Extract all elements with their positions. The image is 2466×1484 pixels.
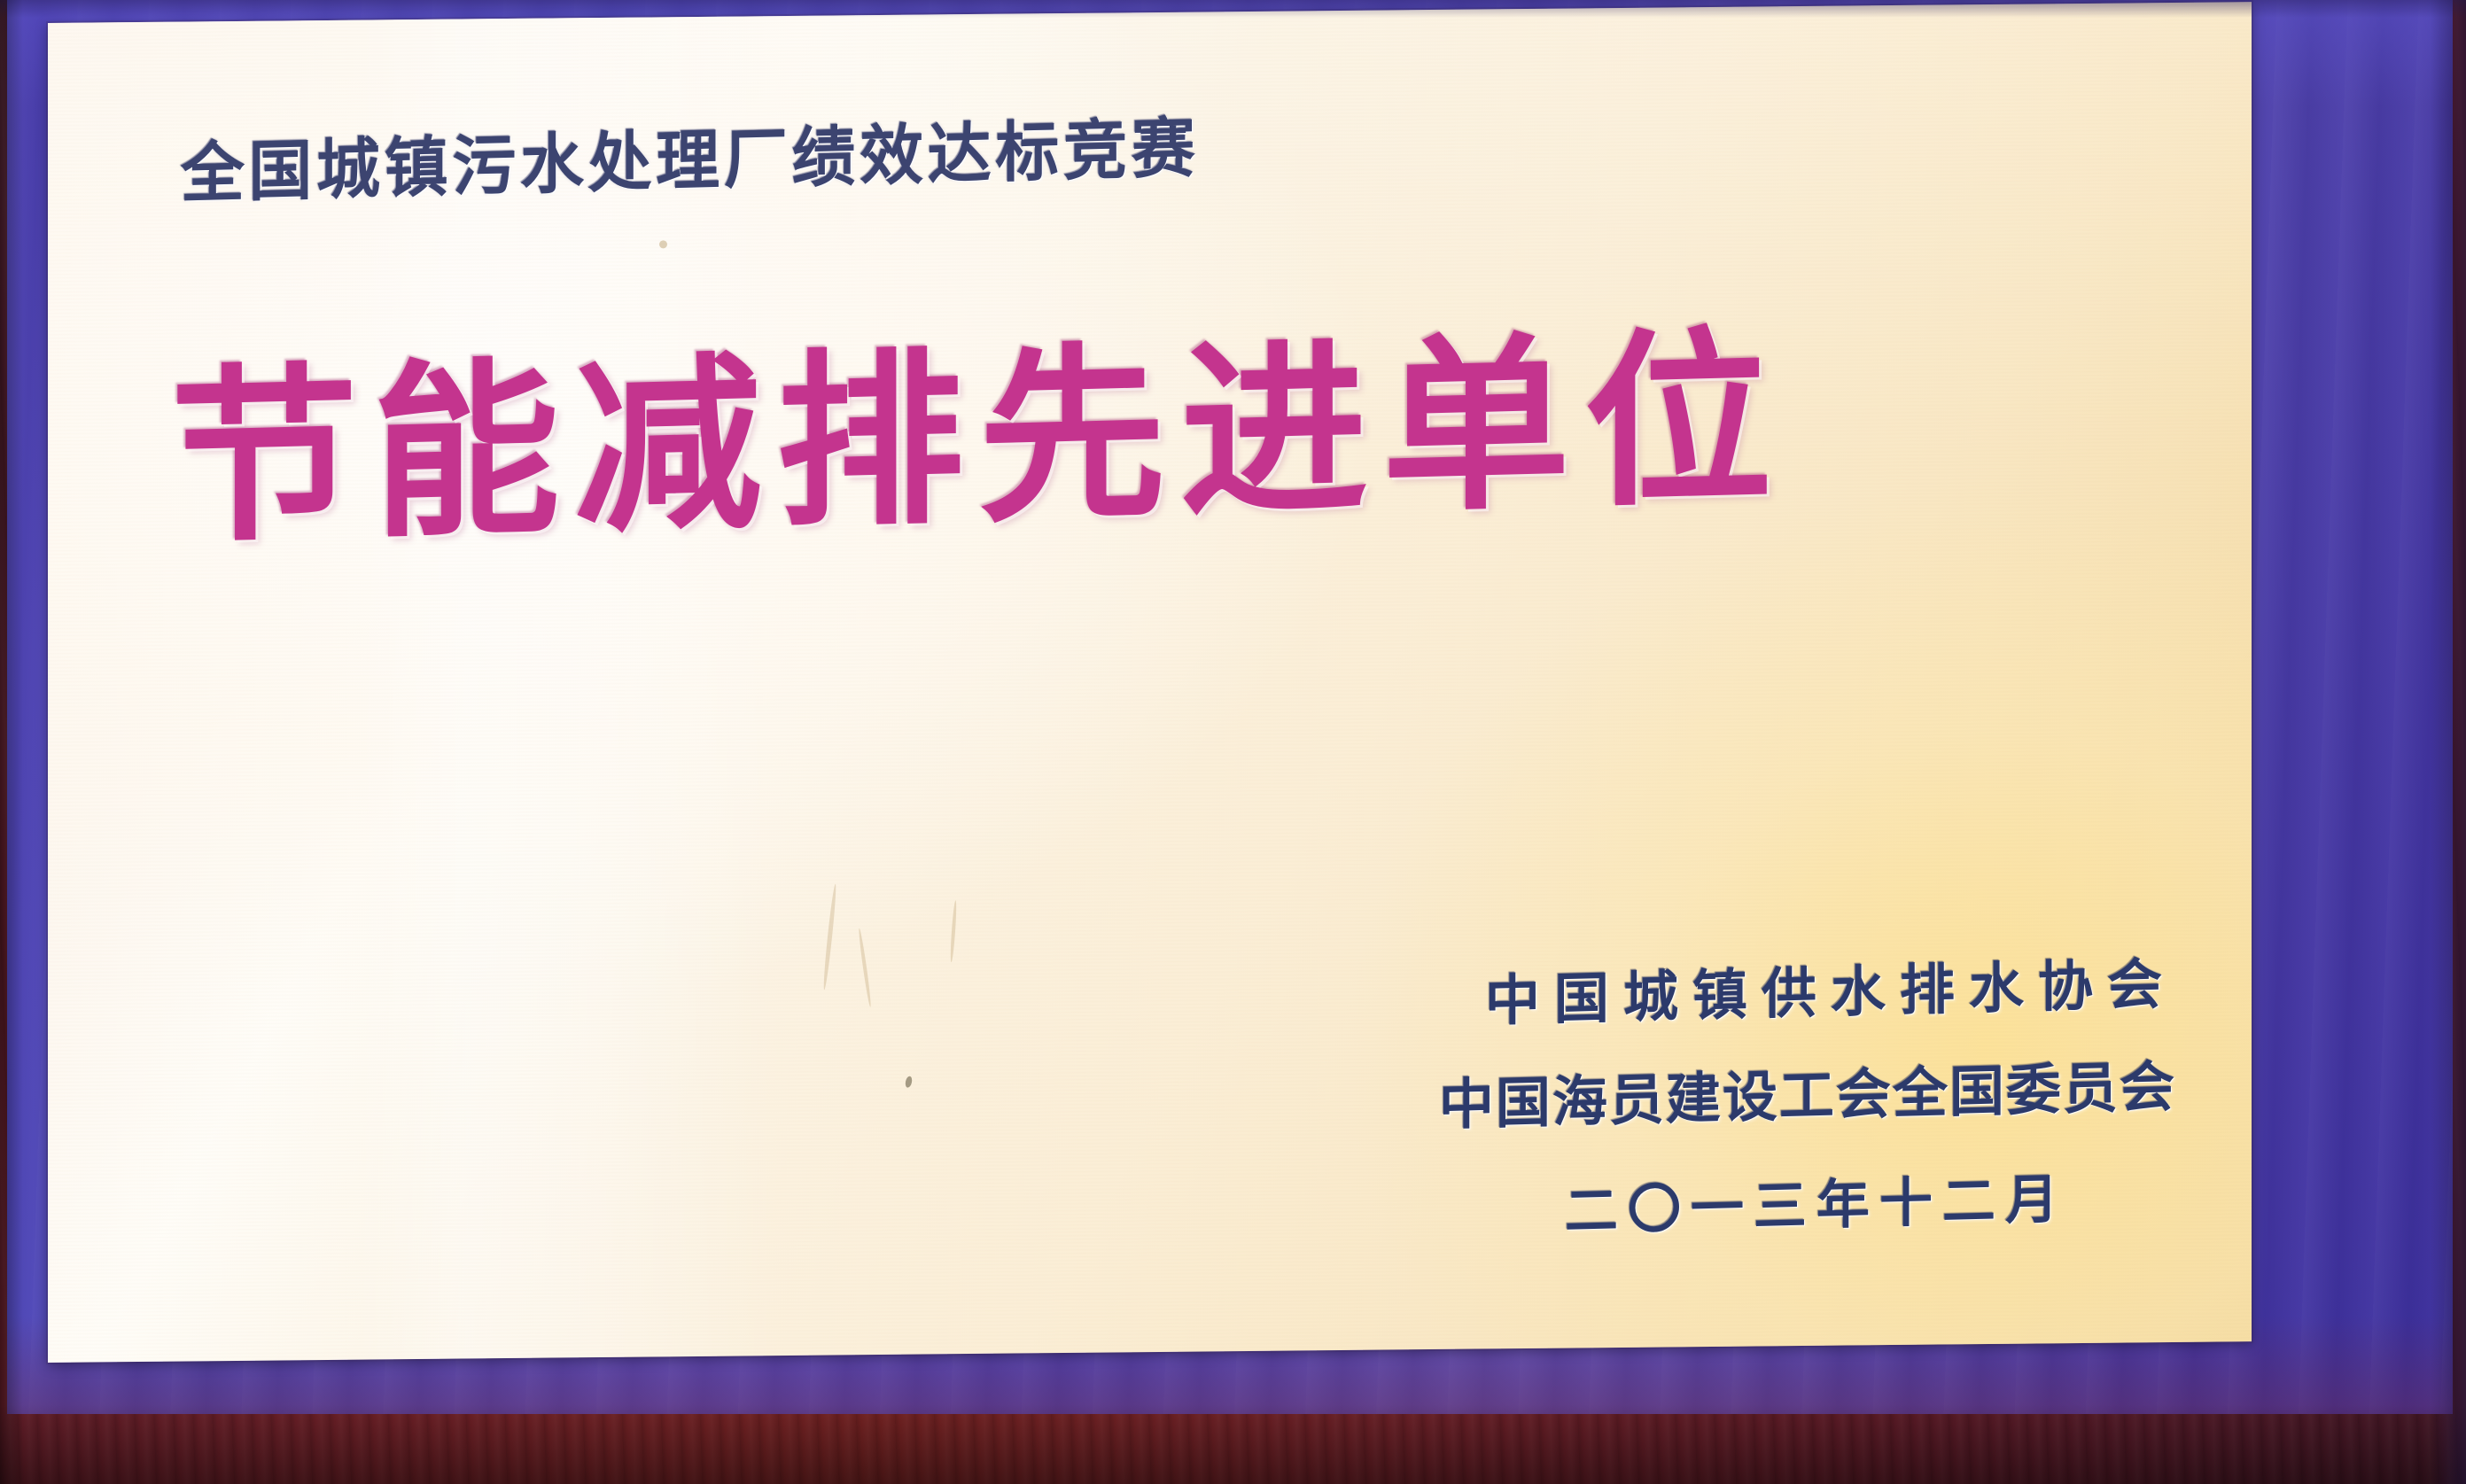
- issuer-organization-secondary: 中国海员建设工会全国委员会: [748, 1041, 2183, 1157]
- contest-title: 全国城镇污水处理厂绩效达标竞赛: [181, 95, 1199, 215]
- plaque-content-area: 全国城镇污水处理厂绩效达标竞赛 节能减排先进单位 中国城镇供水排水协会 中国海员…: [48, 2, 2252, 1363]
- plaque-face-panel: 全国城镇污水处理厂绩效达标竞赛 节能减排先进单位 中国城镇供水排水协会 中国海员…: [48, 2, 2252, 1363]
- award-title: 节能减排先进单位: [170, 256, 2173, 579]
- issuer-signature-block: 中国城镇供水排水协会 中国海员建设工会全国委员会 二〇一三年十二月: [748, 938, 2183, 1266]
- issue-date: 二〇一三年十二月: [748, 1153, 2183, 1266]
- plaque-blue-mat-border: 全国城镇污水处理厂绩效达标竞赛 节能减排先进单位 中国城镇供水排水协会 中国海员…: [7, 0, 2453, 1414]
- surface-blemish-speck-secondary: [659, 240, 667, 248]
- plaque-wooden-frame: 全国城镇污水处理厂绩效达标竞赛 节能减排先进单位 中国城镇供水排水协会 中国海员…: [0, 0, 2466, 1484]
- issuer-organization-primary: 中国城镇供水排水协会: [748, 938, 2183, 1054]
- surface-scuff-mark: [950, 900, 958, 962]
